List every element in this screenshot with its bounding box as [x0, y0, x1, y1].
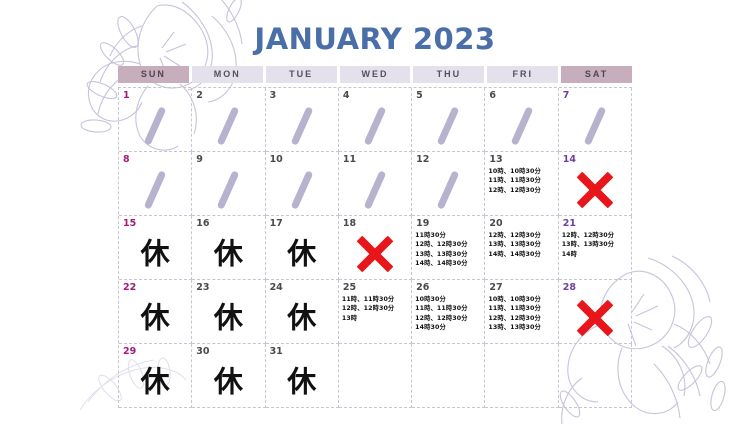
day-content [559, 293, 631, 343]
day-number: 11 [343, 154, 408, 165]
day-content [192, 101, 264, 151]
closed-day-label: 休 [192, 368, 264, 397]
calendar-grid: SUNMONTUEWEDTHUFRISAT 123456789101112131… [118, 66, 632, 408]
time-slot-entry: 11時、11時30分 [488, 176, 556, 185]
x-mark-icon [576, 299, 614, 337]
day-number: 21 [563, 218, 628, 229]
day-number: 27 [489, 282, 554, 293]
slash-mark-icon [437, 106, 460, 145]
day-number: 3 [270, 90, 335, 101]
day-number: 14 [563, 154, 628, 165]
day-number: 20 [489, 218, 554, 229]
slash-mark-icon [217, 106, 240, 145]
calendar-week-row: 22休23休24休2511時、11時30分12時、12時30分13時2610時3… [119, 280, 632, 344]
calendar-day-cell-25[interactable]: 2511時、11時30分12時、12時30分13時 [339, 280, 412, 344]
day-content [412, 165, 484, 215]
day-number: 12 [416, 154, 481, 165]
day-number: 26 [416, 282, 481, 293]
weekday-header-thu: THU [413, 66, 484, 83]
calendar-day-cell-20[interactable]: 2012時、12時30分13時、13時30分14時、14時30分 [485, 216, 558, 280]
calendar-day-cell-empty [412, 344, 485, 408]
day-content: 休 [192, 293, 264, 343]
weekday-header-tue: TUE [266, 66, 337, 83]
day-number: 25 [343, 282, 408, 293]
day-content: 休 [119, 357, 191, 407]
slash-mark-icon [217, 170, 240, 209]
day-number: 5 [416, 90, 481, 101]
calendar-day-cell-10[interactable]: 10 [266, 152, 339, 216]
time-slot-entry: 13時、13時30分 [488, 323, 556, 332]
slash-mark-icon [144, 106, 167, 145]
day-number: 1 [123, 90, 188, 101]
day-content [485, 101, 557, 151]
day-content [559, 101, 631, 151]
day-number: 6 [489, 90, 554, 101]
calendar-day-cell-22[interactable]: 22休 [119, 280, 192, 344]
weekday-header-fri: FRI [487, 66, 558, 83]
day-content: 12時、12時30分13時、13時30分14時 [559, 229, 631, 279]
slash-mark-icon [437, 170, 460, 209]
calendar-day-cell-29[interactable]: 29休 [119, 344, 192, 408]
slash-mark-icon [144, 170, 167, 209]
calendar-day-cell-19[interactable]: 1911時30分12時、12時30分13時、13時30分14時、14時30分 [412, 216, 485, 280]
time-slot-entry: 14時、14時30分 [488, 250, 556, 259]
day-content [266, 165, 338, 215]
time-slot-list: 10時、10時30分11時、11時30分12時、12時30分13時、13時30分 [488, 295, 556, 333]
time-slot-list: 10時、10時30分11時、11時30分12時、12時30分 [488, 167, 556, 195]
day-content [266, 101, 338, 151]
calendar-day-cell-8[interactable]: 8 [119, 152, 192, 216]
time-slot-entry: 14時 [562, 250, 630, 259]
time-slot-entry: 13時、13時30分 [415, 250, 483, 259]
calendar-day-cell-13[interactable]: 1310時、10時30分11時、11時30分12時、12時30分 [485, 152, 558, 216]
time-slot-entry: 12時、12時30分 [415, 314, 483, 323]
calendar-day-cell-18[interactable]: 18 [339, 216, 412, 280]
day-content [339, 229, 411, 279]
calendar-day-cell-30[interactable]: 30休 [192, 344, 265, 408]
day-content [412, 357, 484, 407]
time-slot-list: 12時、12時30分13時、13時30分14時、14時30分 [488, 231, 556, 259]
time-slot-entry: 10時、10時30分 [488, 295, 556, 304]
closed-day-label: 休 [119, 304, 191, 333]
day-number: 31 [270, 346, 335, 357]
day-number: 22 [123, 282, 188, 293]
page-title: JANUARY 2023 [0, 22, 750, 56]
slash-mark-icon [584, 106, 607, 145]
day-number: 30 [196, 346, 261, 357]
day-content [339, 357, 411, 407]
weekday-header-mon: MON [192, 66, 263, 83]
day-content [119, 101, 191, 151]
day-number: 9 [196, 154, 261, 165]
day-number: 15 [123, 218, 188, 229]
time-slot-entry: 12時、12時30分 [415, 240, 483, 249]
day-content: 休 [192, 229, 264, 279]
day-content [339, 165, 411, 215]
time-slot-entry: 13時、13時30分 [562, 240, 630, 249]
x-mark-icon [576, 171, 614, 209]
calendar-day-cell-empty [559, 344, 632, 408]
day-content: 休 [266, 229, 338, 279]
day-content [339, 101, 411, 151]
weekday-header-sun: SUN [118, 66, 189, 83]
weekday-header-wed: WED [340, 66, 411, 83]
calendar-day-cell-15[interactable]: 15休 [119, 216, 192, 280]
day-number: 16 [196, 218, 261, 229]
calendar-day-cell-4[interactable]: 4 [339, 88, 412, 152]
time-slot-entry: 12時、12時30分 [488, 314, 556, 323]
calendar-day-cell-7[interactable]: 7 [559, 88, 632, 152]
day-content [192, 165, 264, 215]
day-number: 28 [563, 282, 628, 293]
slash-mark-icon [290, 106, 313, 145]
calendar: JANUARY 2023 SUNMONTUEWEDTHUFRISAT 12345… [0, 0, 750, 422]
day-number: 24 [270, 282, 335, 293]
time-slot-entry: 10時30分 [415, 295, 483, 304]
closed-day-label: 休 [266, 240, 338, 269]
time-slot-entry: 12時、12時30分 [488, 186, 556, 195]
slash-mark-icon [364, 170, 387, 209]
calendar-day-cell-empty [339, 344, 412, 408]
calendar-day-cell-9[interactable]: 9 [192, 152, 265, 216]
day-content [412, 101, 484, 151]
time-slot-entry: 14時30分 [415, 323, 483, 332]
day-number: 10 [270, 154, 335, 165]
calendar-day-cell-3[interactable]: 3 [266, 88, 339, 152]
time-slot-entry: 11時、11時30分 [415, 304, 483, 313]
time-slot-list: 11時、11時30分12時、12時30分13時 [342, 295, 410, 323]
time-slot-entry: 10時、10時30分 [488, 167, 556, 176]
day-content: 11時30分12時、12時30分13時、13時30分14時、14時30分 [412, 229, 484, 279]
day-number: 13 [489, 154, 554, 165]
calendar-day-cell-14[interactable]: 14 [559, 152, 632, 216]
time-slot-entry: 12時、12時30分 [562, 231, 630, 240]
closed-day-label: 休 [192, 304, 264, 333]
weekday-header-row: SUNMONTUEWEDTHUFRISAT [118, 66, 632, 83]
day-content: 休 [266, 293, 338, 343]
closed-day-label: 休 [119, 240, 191, 269]
calendar-day-cell-6[interactable]: 6 [485, 88, 558, 152]
calendar-day-cell-31[interactable]: 31休 [266, 344, 339, 408]
day-number: 2 [196, 90, 261, 101]
calendar-day-cell-17[interactable]: 17休 [266, 216, 339, 280]
time-slot-entry: 13時 [342, 314, 410, 323]
time-slot-entry: 12時、12時30分 [488, 231, 556, 240]
day-content: 10時、10時30分11時、11時30分12時、12時30分 [485, 165, 557, 215]
calendar-day-cell-5[interactable]: 5 [412, 88, 485, 152]
calendar-day-cell-empty [485, 344, 558, 408]
calendar-day-cell-16[interactable]: 16休 [192, 216, 265, 280]
calendar-week-row: 891011121310時、10時30分11時、11時30分12時、12時30分… [119, 152, 632, 216]
time-slot-entry: 12時、12時30分 [342, 304, 410, 313]
calendar-week-row: 15休16休17休181911時30分12時、12時30分13時、13時30分1… [119, 216, 632, 280]
time-slot-list: 11時30分12時、12時30分13時、13時30分14時、14時30分 [415, 231, 483, 269]
time-slot-entry: 13時、13時30分 [488, 240, 556, 249]
day-content: 10時30分11時、11時30分12時、12時30分14時30分 [412, 293, 484, 343]
calendar-week-row: 29休30休31休 [119, 344, 632, 408]
day-number: 29 [123, 346, 188, 357]
day-content: 11時、11時30分12時、12時30分13時 [339, 293, 411, 343]
time-slot-list: 10時30分11時、11時30分12時、12時30分14時30分 [415, 295, 483, 333]
day-number: 7 [563, 90, 628, 101]
time-slot-entry: 11時、11時30分 [488, 304, 556, 313]
day-content [559, 357, 631, 407]
day-content: 休 [192, 357, 264, 407]
x-mark-icon [356, 235, 394, 273]
time-slot-entry: 14時、14時30分 [415, 259, 483, 268]
day-number: 18 [343, 218, 408, 229]
calendar-day-cell-1[interactable]: 1 [119, 88, 192, 152]
time-slot-list: 12時、12時30分13時、13時30分14時 [562, 231, 630, 259]
day-number: 4 [343, 90, 408, 101]
calendar-day-cell-23[interactable]: 23休 [192, 280, 265, 344]
day-content: 12時、12時30分13時、13時30分14時、14時30分 [485, 229, 557, 279]
time-slot-entry: 11時30分 [415, 231, 483, 240]
day-number: 17 [270, 218, 335, 229]
day-number: 23 [196, 282, 261, 293]
day-content: 10時、10時30分11時、11時30分12時、12時30分13時、13時30分 [485, 293, 557, 343]
closed-day-label: 休 [266, 368, 338, 397]
calendar-weeks: 1234567891011121310時、10時30分11時、11時30分12時… [118, 87, 632, 408]
calendar-day-cell-26[interactable]: 2610時30分11時、11時30分12時、12時30分14時30分 [412, 280, 485, 344]
day-content: 休 [266, 357, 338, 407]
day-number: 19 [416, 218, 481, 229]
closed-day-label: 休 [192, 240, 264, 269]
day-content [119, 165, 191, 215]
calendar-day-cell-2[interactable]: 2 [192, 88, 265, 152]
closed-day-label: 休 [119, 368, 191, 397]
calendar-day-cell-28[interactable]: 28 [559, 280, 632, 344]
day-content [485, 357, 557, 407]
calendar-week-row: 1234567 [119, 88, 632, 152]
day-content [559, 165, 631, 215]
time-slot-entry: 11時、11時30分 [342, 295, 410, 304]
closed-day-label: 休 [266, 304, 338, 333]
slash-mark-icon [510, 106, 533, 145]
calendar-day-cell-21[interactable]: 2112時、12時30分13時、13時30分14時 [559, 216, 632, 280]
day-content: 休 [119, 293, 191, 343]
slash-mark-icon [364, 106, 387, 145]
day-content: 休 [119, 229, 191, 279]
calendar-day-cell-27[interactable]: 2710時、10時30分11時、11時30分12時、12時30分13時、13時3… [485, 280, 558, 344]
calendar-day-cell-11[interactable]: 11 [339, 152, 412, 216]
slash-mark-icon [290, 170, 313, 209]
calendar-day-cell-24[interactable]: 24休 [266, 280, 339, 344]
weekday-header-sat: SAT [561, 66, 632, 83]
calendar-day-cell-12[interactable]: 12 [412, 152, 485, 216]
day-number: 8 [123, 154, 188, 165]
